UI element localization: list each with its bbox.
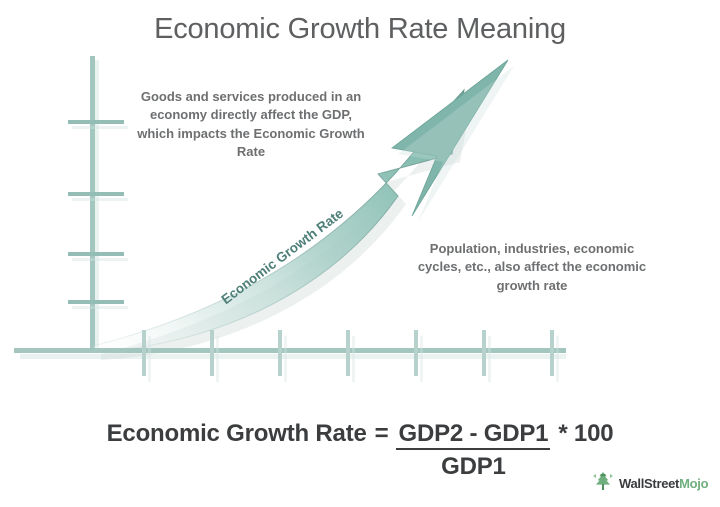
infographic-canvas: Economic Growth Rate Meaning <box>0 0 720 507</box>
arrow-head-shadow <box>398 66 514 222</box>
formula-denominator: GDP1 <box>441 450 506 482</box>
logo-brand-first: WallStreet <box>619 476 679 491</box>
logo-text: WallStreetMojo <box>619 476 708 491</box>
page-title: Economic Growth Rate Meaning <box>0 13 720 46</box>
formula-multiplier: * 100 <box>558 420 613 448</box>
formula-numerator: GDP2 - GDP1 <box>396 421 550 450</box>
formula-row: Economic Growth Rate = GDP2 - GDP1 GDP1 … <box>107 420 614 482</box>
formula-left-hand-side: Economic Growth Rate <box>107 420 367 448</box>
tree-icon <box>592 470 614 497</box>
wallstreetmojo-logo: WallStreetMojo <box>592 470 708 497</box>
logo-brand-second: Mojo <box>679 476 708 491</box>
callout-left-text: Goods and services produced in an econom… <box>137 88 365 162</box>
formula-equals-sign: = <box>375 420 389 448</box>
formula-fraction: GDP2 - GDP1 GDP1 <box>396 421 550 482</box>
callout-right-text: Population, industries, economic cycles,… <box>412 240 652 295</box>
y-axis-tick-shadows <box>72 126 128 309</box>
